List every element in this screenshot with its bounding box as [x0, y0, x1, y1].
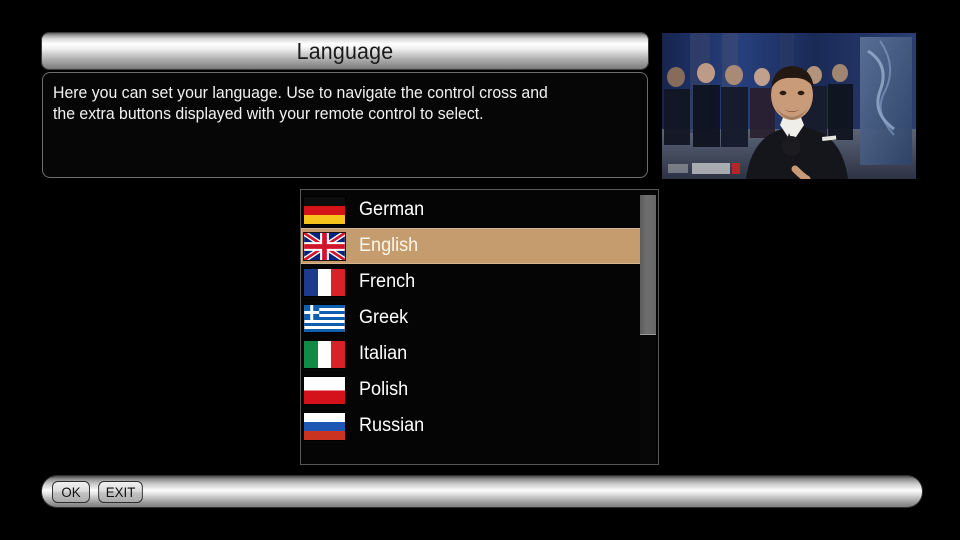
- exit-button[interactable]: EXIT: [98, 481, 143, 503]
- live-tv-preview[interactable]: [662, 33, 916, 179]
- list-item-english[interactable]: English: [301, 228, 642, 264]
- ok-button-label: OK: [61, 484, 80, 500]
- list-item-french[interactable]: French: [301, 264, 642, 300]
- description-line-1: Here you can set your language. Use to n…: [53, 83, 612, 104]
- flag-fr-icon: [304, 269, 345, 296]
- language-list[interactable]: German English: [301, 192, 642, 444]
- exit-button-label: EXIT: [106, 484, 136, 500]
- flag-pl-icon: [304, 377, 345, 404]
- list-item-label: Italian: [359, 343, 407, 365]
- list-item-greek[interactable]: Greek: [301, 300, 642, 336]
- list-item-label: Greek: [359, 307, 408, 329]
- flag-gb-icon: [304, 233, 345, 260]
- list-item-label: Polish: [359, 379, 408, 401]
- flag-gr-icon: [304, 305, 345, 332]
- page-title-bar: Language: [42, 33, 648, 69]
- list-item-label: Russian: [359, 415, 424, 437]
- list-item-italian[interactable]: Italian: [301, 336, 642, 372]
- list-scrollbar-track[interactable]: [640, 192, 656, 464]
- language-list-panel[interactable]: German English: [300, 189, 659, 465]
- flag-de-icon: [304, 197, 345, 224]
- description-panel: Here you can set your language. Use to n…: [42, 72, 648, 178]
- description-line-2: the extra buttons displayed with your re…: [53, 104, 612, 125]
- list-scrollbar-thumb[interactable]: [640, 195, 656, 335]
- ok-button[interactable]: OK: [52, 481, 90, 503]
- flag-ru-icon: [304, 413, 345, 440]
- list-item-label: English: [359, 235, 418, 257]
- list-item-russian[interactable]: Russian: [301, 408, 642, 444]
- bottom-action-bar: OK EXIT: [42, 476, 922, 507]
- list-item-label: French: [359, 271, 415, 293]
- flag-it-icon: [304, 341, 345, 368]
- list-item-polish[interactable]: Polish: [301, 372, 642, 408]
- list-item-german[interactable]: German: [301, 192, 642, 228]
- page-title: Language: [297, 38, 394, 65]
- list-item-label: German: [359, 199, 424, 221]
- tv-settings-screen: Language Here you can set your language.…: [0, 0, 960, 540]
